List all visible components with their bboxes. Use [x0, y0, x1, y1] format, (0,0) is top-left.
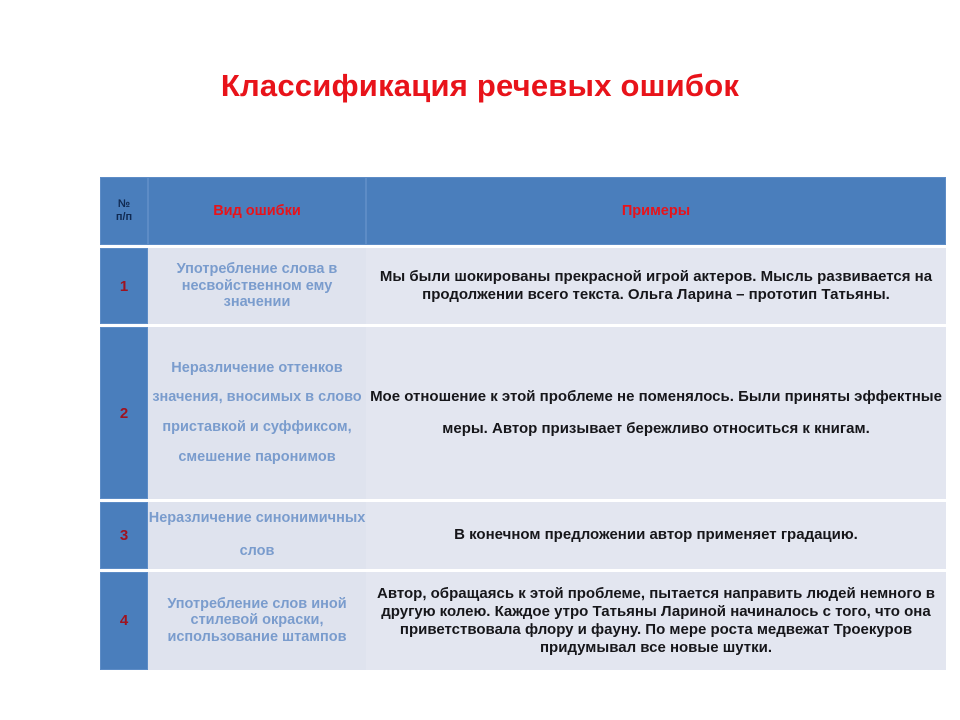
row-number: 3 — [100, 502, 148, 569]
row-number: 1 — [100, 248, 148, 324]
row-error-kind: Употребление слова в несвойственном ему … — [148, 248, 366, 324]
header-cell-number: № п/п — [100, 177, 148, 245]
table-row: 4 Употребление слов иной стилевой окраск… — [100, 572, 946, 670]
row-example: Мое отношение к этой проблеме не поменял… — [366, 327, 946, 499]
table-row: 3 Неразличение синонимичных слов В конеч… — [100, 502, 946, 569]
table-header-row: № п/п Вид ошибки Примеры — [100, 177, 946, 245]
header-number-line2: п/п — [100, 211, 148, 224]
error-classification-table: № п/п Вид ошибки Примеры 1 Употребление … — [100, 177, 946, 670]
page-title: Классификация речевых ошибок — [0, 68, 960, 104]
row-number: 2 — [100, 327, 148, 499]
row-example: Мы были шокированы прекрасной игрой акте… — [366, 248, 946, 324]
header-number-line1: № — [100, 198, 148, 211]
slide-canvas: Классификация речевых ошибок № п/п Вид о… — [0, 0, 960, 720]
row-error-kind: Неразличение синонимичных слов — [148, 502, 366, 569]
table-row: 2 Неразличение оттенков значения, вносим… — [100, 327, 946, 499]
row-error-kind: Употребление слов иной стилевой окраски,… — [148, 572, 366, 670]
header-cell-kind: Вид ошибки — [148, 177, 366, 245]
row-example: Автор, обращаясь к этой проблеме, пытает… — [366, 572, 946, 670]
row-number: 4 — [100, 572, 148, 670]
header-cell-examples: Примеры — [366, 177, 946, 245]
row-error-kind: Неразличение оттенков значения, вносимых… — [148, 327, 366, 499]
row-example: В конечном предложении автор применяет г… — [366, 502, 946, 569]
table-row: 1 Употребление слова в несвойственном ем… — [100, 248, 946, 324]
